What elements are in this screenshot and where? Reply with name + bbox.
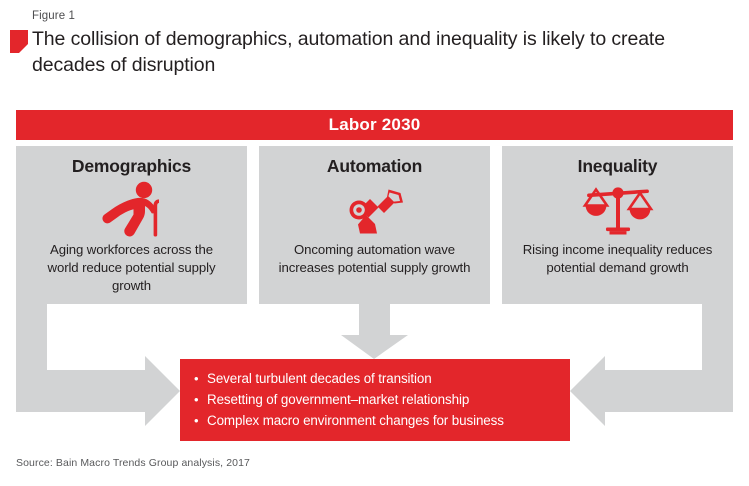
left-elbow-arrow [16,304,180,426]
conclusion-bullet-text: Resetting of government–market relations… [207,389,469,410]
bullet-glyph: • [194,389,207,410]
conclusion-bullet-text: Complex macro environment changes for bu… [207,410,504,431]
source-note: Source: Bain Macro Trends Group analysis… [16,457,250,469]
banner-labor-2030: Labor 2030 [16,110,733,140]
panel-demographics: Demographics Aging workforces across the… [16,146,247,304]
bullet-glyph: • [194,410,207,431]
panel-automation: Automation Oncoming automation wave incr… [259,146,490,304]
banner-title: Labor 2030 [329,115,421,135]
conclusion-bullet: • Resetting of government–market relatio… [194,389,556,410]
conclusion-bullet: • Complex macro environment changes for … [194,410,556,431]
center-down-arrow [341,304,408,359]
elderly-person-with-cane-icon [28,181,235,237]
balance-scale-icon [514,181,721,237]
bullet-glyph: • [194,368,207,389]
red-flag-marker-icon [10,30,28,53]
panel-title-automation: Automation [271,156,478,177]
conclusion-box: • Several turbulent decades of transitio… [180,359,570,441]
robotic-arm-icon [271,181,478,237]
right-elbow-arrow [570,304,733,426]
conclusion-bullet-text: Several turbulent decades of transition [207,368,432,389]
panel-description-automation: Oncoming automation wave increases poten… [271,241,478,277]
panel-description-inequality: Rising income inequality reduces potenti… [514,241,721,277]
conclusion-bullet: • Several turbulent decades of transitio… [194,368,556,389]
page-title: The collision of demographics, automatio… [32,26,732,78]
panel-title-inequality: Inequality [514,156,721,177]
panel-inequality: Inequality Rising income inequality redu… [502,146,733,304]
figure-label: Figure 1 [32,10,75,22]
panel-title-demographics: Demographics [28,156,235,177]
panel-description-demographics: Aging workforces across the world reduce… [28,241,235,295]
